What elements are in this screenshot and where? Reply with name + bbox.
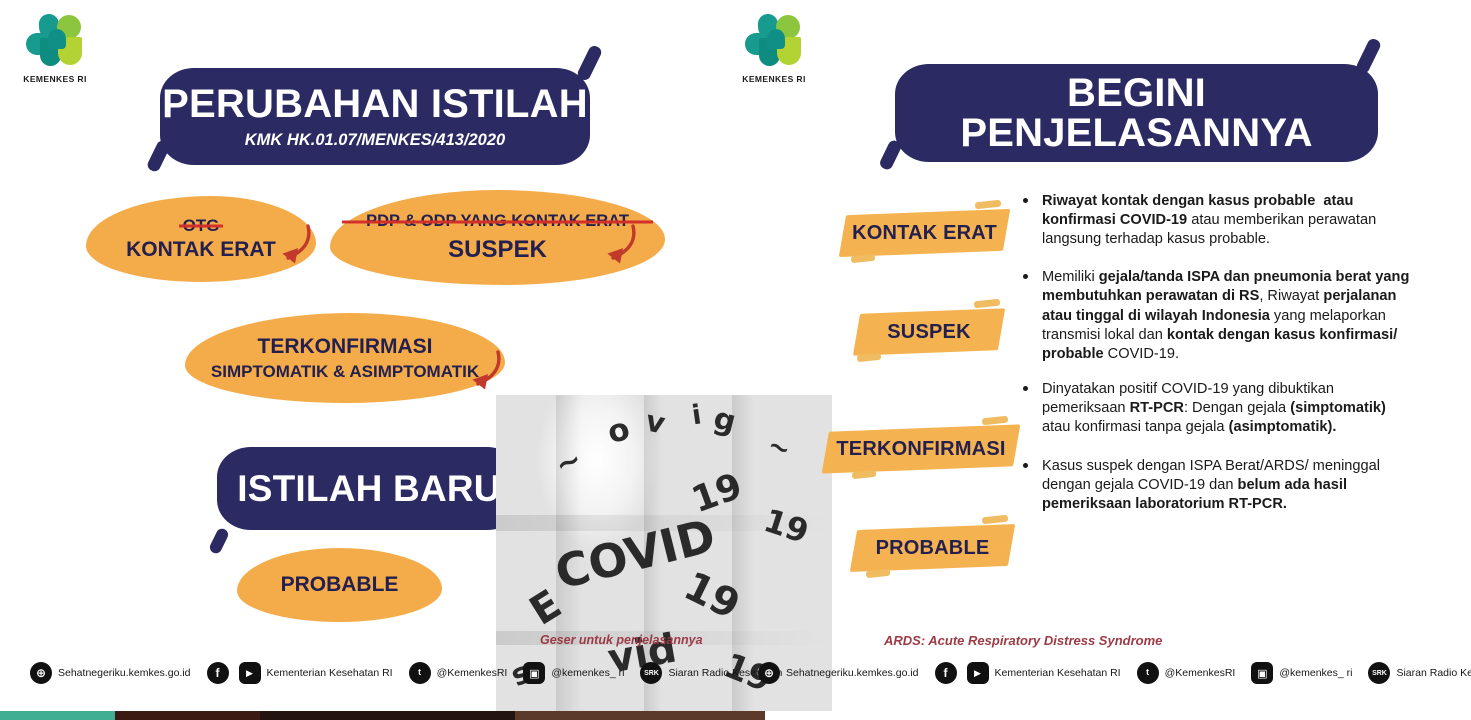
old-term-otg: OTG: [183, 217, 220, 235]
left-header-bubble: PERUBAHAN ISTILAH KMK HK.01.07/MENKES/41…: [160, 68, 590, 165]
explanation-item-probable: Kasus suspek dengan ISPA Berat/ARDS/ men…: [1020, 457, 1415, 514]
new-term-simptomatik: SIMPTOMATIK & ASIMPTOMATIK: [211, 363, 479, 381]
left-header-subtitle: KMK HK.01.07/MENKES/413/2020: [245, 132, 505, 149]
left-header-title: PERUBAHAN ISTILAH: [162, 84, 588, 124]
curved-arrow-2: [597, 222, 639, 266]
youtube-icon: ▶: [239, 662, 261, 684]
footer-item-radio[interactable]: SRK Siaran Radio Kesehatan: [1368, 662, 1471, 684]
kemenkes-logo-mark: [26, 14, 86, 70]
footer-item-youtube[interactable]: ▶ Kementerian Kesehatan RI: [967, 662, 1121, 684]
instagram-icon: ▣: [1251, 662, 1273, 684]
footer-label: @KemenkesRI: [1165, 667, 1236, 679]
right-bubble-tick-top: [1355, 37, 1382, 75]
new-term-suspek: SUSPEK: [448, 237, 547, 262]
facebook-icon: f: [935, 662, 957, 684]
tag-label: TERKONFIRMASI: [826, 428, 1016, 470]
bubble-tick-top-right: [576, 44, 603, 82]
curved-arrow-3: [462, 348, 504, 392]
kemenkes-logo-caption-right: KEMENKES RI: [737, 74, 811, 84]
old-term-pdp-odp: PDP & ODP YANG KONTAK ERAT: [366, 213, 629, 230]
footer-label: @KemenkesRI: [437, 667, 508, 679]
footer-item-instagram[interactable]: ▣ @kemenkes_ ri: [1251, 662, 1352, 684]
footer-item-instagram[interactable]: ▣ @kemenkes_ ri: [523, 662, 624, 684]
tag-label: KONTAK ERAT: [843, 212, 1006, 254]
bottom-strip-seg-1: [115, 711, 260, 720]
tag-dash-bottom-3: [852, 470, 877, 479]
footer-label: Kementerian Kesehatan RI: [995, 667, 1121, 679]
globe-icon: ⊕: [758, 662, 780, 684]
curved-arrow-1: [272, 222, 314, 266]
kemenkes-logo-right: KEMENKES RI: [737, 14, 811, 94]
youtube-icon: ▶: [967, 662, 989, 684]
swipe-hint-text: Geser untuk penjelasannya: [540, 633, 703, 647]
footer-item-website[interactable]: ⊕ Sehatnegeriku.kemkes.go.id: [30, 662, 191, 684]
bottom-strip-seg-2: [260, 711, 515, 720]
footer-label: Sehatnegeriku.kemkes.go.id: [786, 667, 919, 679]
new-term-blob-probable: PROBABLE: [237, 548, 442, 622]
footer-item-facebook[interactable]: f: [207, 662, 235, 684]
explanation-list: Riwayat kontak dengan kasus probable ata…: [1020, 192, 1415, 532]
new-terms-header-title: ISTILAH BARU: [237, 470, 500, 507]
footer-item-facebook[interactable]: f: [935, 662, 963, 684]
tag-dash-bottom-2: [857, 353, 882, 362]
right-header-bubble: BEGINI PENJELASANNYA: [895, 64, 1378, 162]
twitter-icon: ᵗ: [409, 662, 431, 684]
bullet-dot: [1023, 198, 1028, 203]
tag-dash-bottom-1: [851, 254, 876, 263]
explanation-text: Kasus suspek dengan ISPA Berat/ARDS/ men…: [1042, 458, 1380, 512]
bullet-dot: [1023, 463, 1028, 468]
tag-probable: PROBABLE: [854, 527, 1011, 569]
bubble-tick-bottom-left: [146, 139, 172, 173]
footer-label: Siaran Radio Kesehatan: [1396, 667, 1471, 679]
kemenkes-logo-left: KEMENKES RI: [18, 14, 92, 94]
new-terms-header-bubble: ISTILAH BARU: [217, 447, 521, 530]
explanation-text: Dinyatakan positif COVID-19 yang dibukti…: [1042, 381, 1386, 435]
footer-label: Kementerian Kesehatan RI: [267, 667, 393, 679]
new-term-probable: PROBABLE: [281, 574, 399, 596]
globe-icon: ⊕: [30, 662, 52, 684]
new-term-kontak-erat: KONTAK ERAT: [126, 239, 276, 261]
footer-left: ⊕ Sehatnegeriku.kemkes.go.id f ▶ Kemente…: [30, 658, 730, 688]
kemenkes-logo-mark-right: [745, 14, 805, 70]
infographic-canvas: KEMENKES RI PERUBAHAN ISTILAH KMK HK.01.…: [0, 0, 1471, 720]
radio-icon: SRK: [1368, 662, 1390, 684]
footer-label: @kemenkes_ ri: [551, 667, 624, 679]
old-term-terkonfirmasi: TERKONFIRMASI: [258, 336, 433, 358]
tag-dash-top-2: [974, 299, 1001, 309]
explanation-text: Memiliki gejala/tanda ISPA dan pneumonia…: [1042, 269, 1409, 361]
ards-footnote: ARDS: Acute Respiratory Distress Syndrom…: [884, 633, 1162, 648]
tag-suspek: SUSPEK: [857, 311, 1001, 353]
radio-icon: SRK: [640, 662, 662, 684]
tag-label: SUSPEK: [857, 311, 1001, 353]
footer-item-twitter[interactable]: ᵗ @KemenkesRI: [409, 662, 508, 684]
footer-right: ⊕ Sehatnegeriku.kemkes.go.id f ▶ Kemente…: [758, 658, 1458, 688]
istilah-tick-bottom-left: [208, 527, 230, 556]
tag-label: PROBABLE: [854, 527, 1011, 569]
explanation-item-suspek: Memiliki gejala/tanda ISPA dan pneumonia…: [1020, 268, 1415, 364]
footer-label: Sehatnegeriku.kemkes.go.id: [58, 667, 191, 679]
bullet-dot: [1023, 274, 1028, 279]
bottom-strip: [0, 711, 1471, 720]
tag-dash-top-4: [982, 515, 1009, 525]
twitter-icon: ᵗ: [1137, 662, 1159, 684]
bottom-strip-teal: [0, 711, 115, 720]
footer-label: @kemenkes_ ri: [1279, 667, 1352, 679]
footer-item-youtube[interactable]: ▶ Kementerian Kesehatan RI: [239, 662, 393, 684]
footer-item-website[interactable]: ⊕ Sehatnegeriku.kemkes.go.id: [758, 662, 919, 684]
right-bubble-tick-bottom: [878, 139, 903, 172]
tag-dash-top-1: [975, 200, 1002, 210]
bullet-dot: [1023, 386, 1028, 391]
kemenkes-logo-caption: KEMENKES RI: [18, 74, 92, 84]
logo-core: [48, 29, 66, 49]
instagram-icon: ▣: [523, 662, 545, 684]
term-blob-terkonfirmasi: TERKONFIRMASI SIMPTOMATIK & ASIMPTOMATIK: [185, 313, 505, 403]
tag-dash-top-3: [982, 416, 1009, 426]
bottom-strip-seg-4: [765, 711, 1471, 720]
tag-dash-bottom-4: [866, 569, 891, 578]
tag-terkonfirmasi: TERKONFIRMASI: [826, 428, 1016, 470]
right-header-title: BEGINI PENJELASANNYA: [895, 73, 1378, 153]
explanation-item-terkonfirmasi: Dinyatakan positif COVID-19 yang dibukti…: [1020, 380, 1415, 437]
tag-kontak-erat: KONTAK ERAT: [843, 212, 1006, 254]
bottom-strip-seg-3: [515, 711, 765, 720]
logo-core: [767, 29, 785, 49]
explanation-item-kontak-erat: Riwayat kontak dengan kasus probable ata…: [1020, 192, 1415, 249]
facebook-icon: f: [207, 662, 229, 684]
footer-item-twitter[interactable]: ᵗ @KemenkesRI: [1137, 662, 1236, 684]
explanation-text: Riwayat kontak dengan kasus probable ata…: [1042, 193, 1376, 247]
